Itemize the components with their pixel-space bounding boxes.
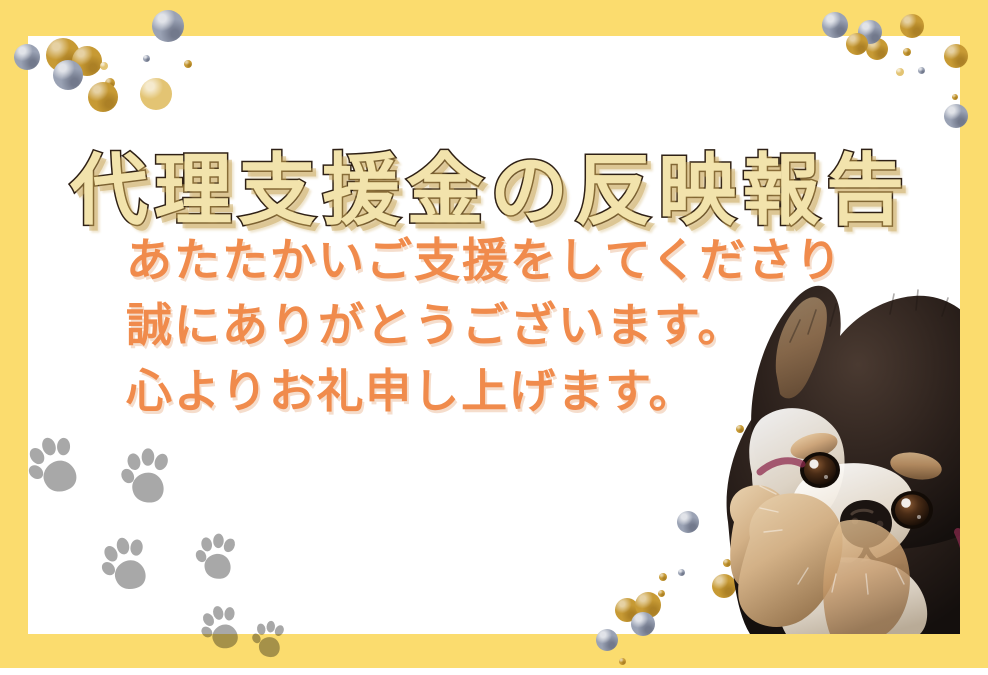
poster-canvas: 代理支援金の反映報告 あたたかいご支援をしてくださり 誠にありがとうございます。… xyxy=(0,0,988,675)
paw-print-icon xyxy=(114,440,182,508)
frame-right-band xyxy=(960,0,988,668)
confetti-dot-gold xyxy=(659,573,667,581)
paw-print-icon xyxy=(18,426,92,500)
paw-print-icon xyxy=(95,530,159,594)
confetti-dot-silver xyxy=(918,67,925,74)
message-line-2: 誠にありがとうございます。 xyxy=(126,293,806,358)
thank-you-message: あたたかいご支援をしてくださり 誠にありがとうございます。 心よりお礼申し上げま… xyxy=(126,228,806,424)
frame-bottom-band xyxy=(0,634,988,668)
page-title: 代理支援金の反映報告 xyxy=(60,150,920,233)
confetti-dot-silver xyxy=(631,612,655,636)
paw-print-icon xyxy=(246,614,293,661)
confetti-dot-silver xyxy=(678,569,685,576)
confetti-dot-gold xyxy=(88,82,118,112)
confetti-dot-lightgold xyxy=(896,68,904,76)
confetti-dot-gold xyxy=(846,33,868,55)
message-line-3: 心よりお礼申し上げます。 xyxy=(126,359,806,424)
confetti-dot-gold xyxy=(900,14,924,38)
confetti-dot-silver xyxy=(822,12,848,38)
frame-bottom-hairline xyxy=(0,668,988,675)
confetti-dot-silver xyxy=(143,55,150,62)
confetti-dot-gold xyxy=(944,44,968,68)
confetti-dot-lightgold xyxy=(100,62,108,70)
confetti-dot-silver xyxy=(944,104,968,128)
paw-print-icon xyxy=(189,526,247,584)
confetti-dot-gold xyxy=(619,658,626,665)
message-line-1: あたたかいご支援をしてくださり xyxy=(126,228,806,293)
confetti-dot-gold xyxy=(903,48,911,56)
frame-left-band xyxy=(0,0,28,668)
confetti-dot-silver xyxy=(152,10,184,42)
confetti-dot-silver xyxy=(14,44,40,70)
confetti-dot-silver xyxy=(53,60,83,90)
confetti-dot-lightgold xyxy=(140,78,172,110)
confetti-dot-gold xyxy=(184,60,192,68)
confetti-dot-silver xyxy=(596,629,618,651)
confetti-dot-gold xyxy=(952,94,958,100)
confetti-dot-gold xyxy=(658,590,665,597)
paw-print-icon xyxy=(195,599,249,653)
